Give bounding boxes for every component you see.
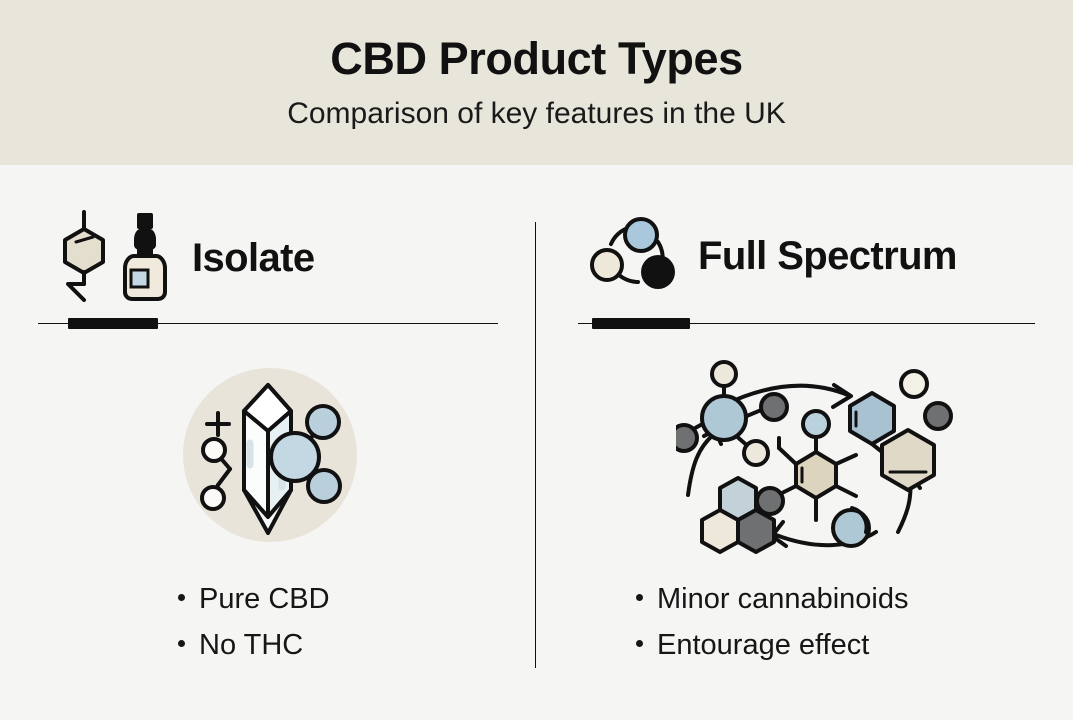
column-isolate-header-icons: [56, 210, 170, 307]
column-full-spectrum: Full Spectrum: [536, 165, 1073, 720]
bullet-dot-icon: [178, 594, 185, 601]
molecule-hexagon-icon: [56, 210, 112, 307]
column-full-spectrum-rule-accent: [592, 318, 690, 329]
bullet-label: Minor cannabinoids: [657, 577, 908, 623]
column-isolate-header: Isolate: [56, 210, 315, 307]
dropper-bottle-icon: [120, 210, 170, 307]
bullet-dot-icon: [178, 640, 185, 647]
column-isolate-rule-accent: [68, 318, 158, 329]
bullet-dot-icon: [636, 594, 643, 601]
list-item: No THC: [178, 623, 330, 669]
header-band: CBD Product Types Comparison of key feat…: [0, 0, 1073, 165]
column-full-spectrum-heading: Full Spectrum: [698, 234, 957, 279]
bullet-label: Pure CBD: [199, 577, 330, 623]
three-circles-cycle-icon: [588, 210, 680, 303]
cbd-crystal-icon: [180, 365, 360, 550]
bullet-label: Entourage effect: [657, 623, 869, 669]
column-isolate-heading: Isolate: [192, 236, 315, 281]
column-full-spectrum-bullets: Minor cannabinoids Entourage effect: [636, 577, 908, 669]
page-subtitle: Comparison of key features in the UK: [0, 96, 1073, 132]
bullet-label: No THC: [199, 623, 303, 669]
list-item: Pure CBD: [178, 577, 330, 623]
page-title: CBD Product Types: [0, 34, 1073, 84]
column-full-spectrum-header-icons: [588, 210, 680, 303]
infographic-canvas: CBD Product Types Comparison of key feat…: [0, 0, 1073, 720]
column-full-spectrum-header: Full Spectrum: [588, 210, 957, 303]
bullet-dot-icon: [636, 640, 643, 647]
list-item: Minor cannabinoids: [636, 577, 908, 623]
column-isolate-bullets: Pure CBD No THC: [178, 577, 330, 669]
cannabinoid-network-icon: [676, 360, 956, 580]
column-isolate: Isolate: [0, 165, 535, 720]
list-item: Entourage effect: [636, 623, 908, 669]
